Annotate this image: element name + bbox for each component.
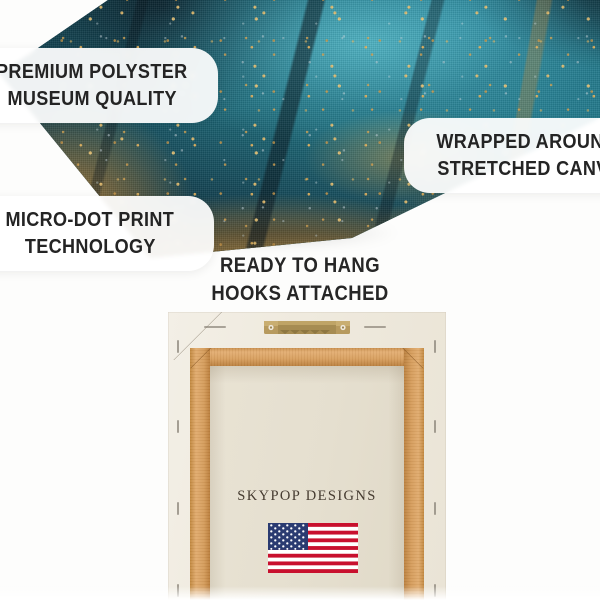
badge-line-1: WRAPPED AROUND — [436, 129, 600, 156]
badge-line-1: PREMIUM POLYSTER — [0, 59, 188, 86]
staple-mark — [177, 420, 179, 433]
canvas-back-view: SKYPOP DESIGNS — [168, 312, 446, 600]
badge-line-1: MICRO-DOT PRINT — [6, 207, 175, 234]
staple-mark — [177, 502, 179, 515]
brand-name-label: SKYPOP DESIGNS — [210, 488, 404, 505]
feature-badge-wrapped-around: WRAPPED AROUND STRETCHED CANVAS — [404, 118, 600, 193]
staple-mark — [434, 340, 436, 353]
staple-mark — [434, 420, 436, 433]
product-mockup-image: PREMIUM POLYSTER MUSEUM QUALITY WRAPPED … — [0, 0, 600, 600]
stretcher-bar-left — [190, 348, 210, 600]
stretcher-bar-right — [404, 348, 424, 600]
usa-flag-icon — [268, 523, 358, 573]
badge-line-2: STRETCHED CANVAS — [437, 156, 600, 183]
miter-joint-left — [190, 348, 212, 368]
stretcher-bar-top — [190, 348, 424, 366]
staple-mark — [177, 340, 179, 353]
sawtooth-hanger-icon — [264, 321, 350, 336]
headline-line-2: HOOKS ATTACHED — [36, 280, 564, 308]
badge-line-2: MUSEUM QUALITY — [7, 86, 176, 113]
staple-mark — [434, 502, 436, 515]
staple-mark — [364, 326, 386, 328]
feature-badge-premium-polyster: PREMIUM POLYSTER MUSEUM QUALITY — [0, 48, 218, 123]
bottom-fade — [0, 586, 600, 600]
staple-mark — [204, 326, 226, 328]
miter-joint-right — [402, 348, 424, 368]
headline-line-1: READY TO HANG — [36, 252, 564, 280]
ready-to-hang-headline: READY TO HANG HOOKS ATTACHED — [0, 252, 600, 308]
